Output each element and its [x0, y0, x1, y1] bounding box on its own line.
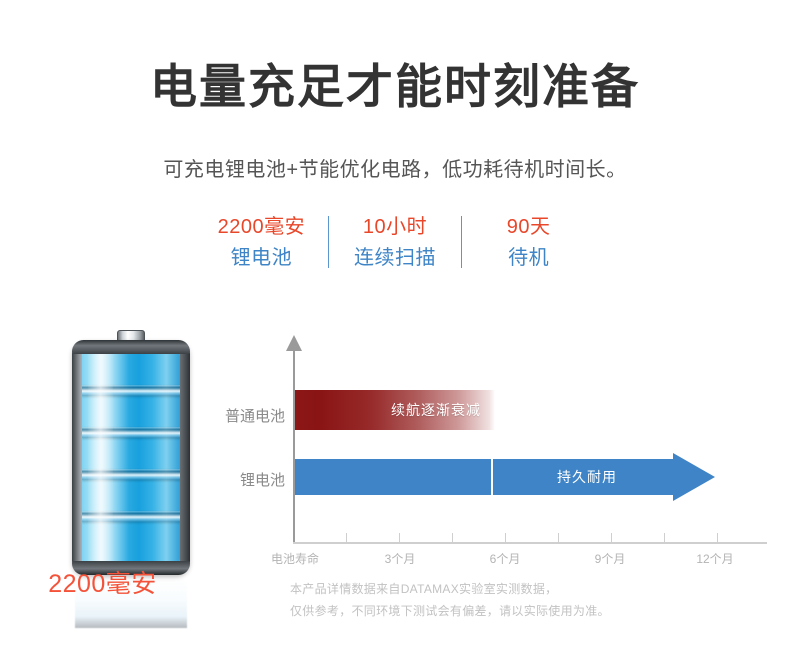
axis-tick	[346, 533, 347, 542]
axis-tick	[664, 533, 665, 542]
axis-tick	[558, 533, 559, 542]
page-title: 电量充足才能时刻准备	[0, 58, 790, 116]
chart-bar-lithium-battery: 持久耐用	[295, 453, 715, 501]
stats-row: 2200毫安 锂电池 10小时 连续扫描 90天 待机	[195, 212, 595, 276]
chart-category-label-ordinary: 普通电池	[215, 407, 285, 427]
axis-tick	[505, 533, 506, 542]
chart-bar-annotation-lithium: 持久耐用	[557, 459, 617, 495]
stat-caption: 待机	[462, 242, 595, 274]
footnote-line-1: 本产品详情数据来自DATAMAX实验室实测数据，	[290, 578, 760, 600]
chart-x-tick-label-3: 3个月	[365, 550, 435, 568]
stat-item-capacity: 2200毫安 锂电池	[195, 212, 328, 274]
chart-bar-ordinary-battery: 续航逐渐衰减	[295, 390, 495, 430]
battery-inner	[82, 349, 180, 566]
chart-x-axis	[293, 542, 767, 544]
chart-y-axis	[293, 349, 295, 544]
battery-segment-line	[82, 511, 180, 522]
promo-page: 电量充足才能时刻准备 可充电锂电池+节能优化电路，低功耗待机时间长。 2200毫…	[0, 0, 790, 672]
footnote: 本产品详情数据来自DATAMAX实验室实测数据， 仅供参考，不同环境下测试会有偏…	[290, 578, 760, 622]
stat-caption: 锂电池	[195, 242, 328, 274]
battery-capacity-label: 2200毫安	[0, 568, 205, 600]
chart-category-label-lithium: 锂电池	[215, 471, 285, 491]
page-subtitle: 可充电锂电池+节能优化电路，低功耗待机时间长。	[0, 155, 790, 185]
stat-value: 10小时	[329, 212, 462, 242]
stat-item-scantime: 10小时 连续扫描	[329, 212, 462, 274]
battery-segment-line	[82, 385, 180, 396]
axis-tick	[611, 533, 612, 542]
battery-segment-line	[82, 427, 180, 438]
chart-bar-marker-line	[491, 459, 493, 495]
stat-value: 2200毫安	[195, 212, 328, 242]
axis-tick	[717, 533, 718, 542]
stat-item-standby: 90天 待机	[462, 212, 595, 274]
battery-fill	[82, 349, 180, 566]
chart-x-tick-label-6: 6个月	[470, 550, 540, 568]
stat-value: 90天	[462, 212, 595, 242]
chart-bar-annotation-ordinary: 续航逐渐衰减	[391, 390, 481, 430]
chart-x-tick-label-9: 9个月	[575, 550, 645, 568]
chart-x-tick-label-12: 12个月	[680, 550, 750, 568]
chart-bar-arrowhead-icon	[673, 453, 715, 501]
battery-life-chart: 普通电池 锂电池 续航逐渐衰减 持久耐用 电池寿命 3个月 6个月 9个月 12…	[215, 335, 775, 585]
axis-tick	[399, 533, 400, 542]
battery-segment-line	[82, 469, 180, 480]
battery-top-rim	[72, 340, 190, 354]
stat-caption: 连续扫描	[329, 242, 462, 274]
battery-body	[72, 340, 190, 575]
footnote-line-2: 仅供参考，不同环境下测试会有偏差，请以实际使用为准。	[290, 600, 760, 622]
chart-x-tick-label-0: 电池寿命	[260, 550, 330, 568]
axis-tick	[452, 533, 453, 542]
